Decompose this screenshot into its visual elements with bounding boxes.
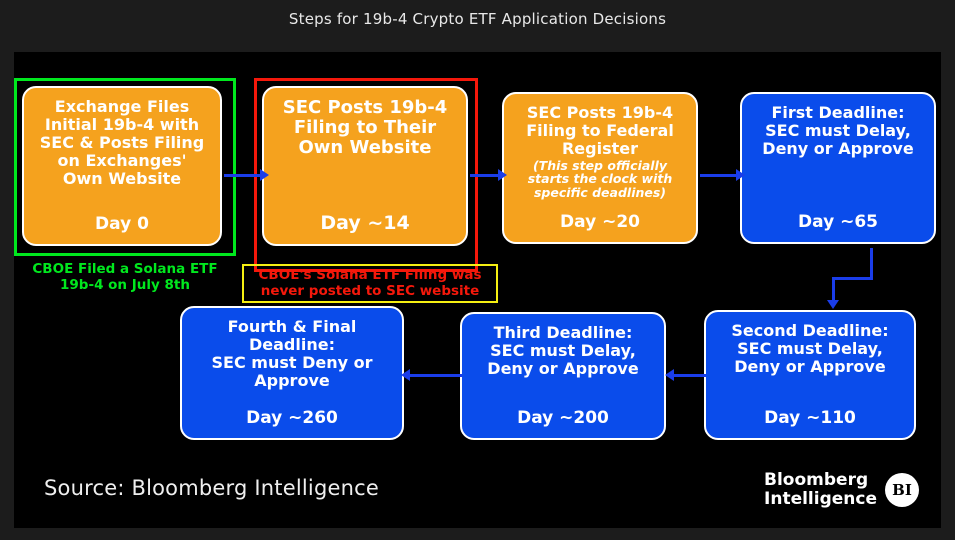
flow-box-step-3-sub: (This step officiallystarts the clock wi… (528, 159, 673, 200)
annotation-green-note: CBOE Filed a Solana ETF19b-4 on July 8th (14, 262, 236, 293)
flow-box-step-6-day: Day ~200 (462, 409, 664, 428)
logo-line-2: Intelligence (764, 490, 877, 508)
flow-box-step-6[interactable]: Third Deadline:SEC must Delay,Deny or Ap… (460, 312, 666, 440)
logo-line-1: Bloomberg (764, 471, 877, 489)
flow-box-step-6-head: Third Deadline:SEC must Delay,Deny or Ap… (487, 324, 638, 378)
flow-box-step-5-head: Second Deadline:SEC must Delay,Deny or A… (731, 322, 888, 376)
flow-box-step-7-head: Fourth & FinalDeadline:SEC must Deny orA… (212, 318, 373, 390)
flow-box-step-5-day: Day ~110 (706, 409, 914, 428)
flow-box-step-3[interactable]: SEC Posts 19b-4Filing to FederalRegister… (502, 92, 698, 244)
infographic-root: Steps for 19b-4 Crypto ETF Application D… (0, 0, 955, 540)
page-title: Steps for 19b-4 Crypto ETF Application D… (0, 10, 955, 28)
flow-box-step-4[interactable]: First Deadline:SEC must Delay,Deny or Ap… (740, 92, 936, 244)
bloomberg-intelligence-logo: Bloomberg Intelligence BI (764, 471, 919, 508)
flow-box-step-5[interactable]: Second Deadline:SEC must Delay,Deny or A… (704, 310, 916, 440)
flow-box-step-4-head: First Deadline:SEC must Delay,Deny or Ap… (762, 104, 913, 158)
flow-box-step-3-head: SEC Posts 19b-4Filing to FederalRegister (526, 104, 674, 158)
highlight-outline-green (14, 78, 236, 256)
source-label: Source: Bloomberg Intelligence (44, 476, 379, 500)
highlight-outline-red (254, 78, 478, 272)
flow-box-step-3-day: Day ~20 (504, 213, 696, 232)
flow-box-step-7-day: Day ~260 (182, 409, 402, 428)
logo-wordmark: Bloomberg Intelligence (764, 471, 877, 508)
flow-box-step-4-day: Day ~65 (742, 213, 934, 232)
diagram-canvas: Exchange FilesInitial 19b-4 withSEC & Po… (14, 52, 941, 528)
annotation-red-note: CBOE's Solana ETF Filing wasnever posted… (242, 264, 498, 303)
bi-circle-icon: BI (885, 473, 919, 507)
flow-box-step-7[interactable]: Fourth & FinalDeadline:SEC must Deny orA… (180, 306, 404, 440)
